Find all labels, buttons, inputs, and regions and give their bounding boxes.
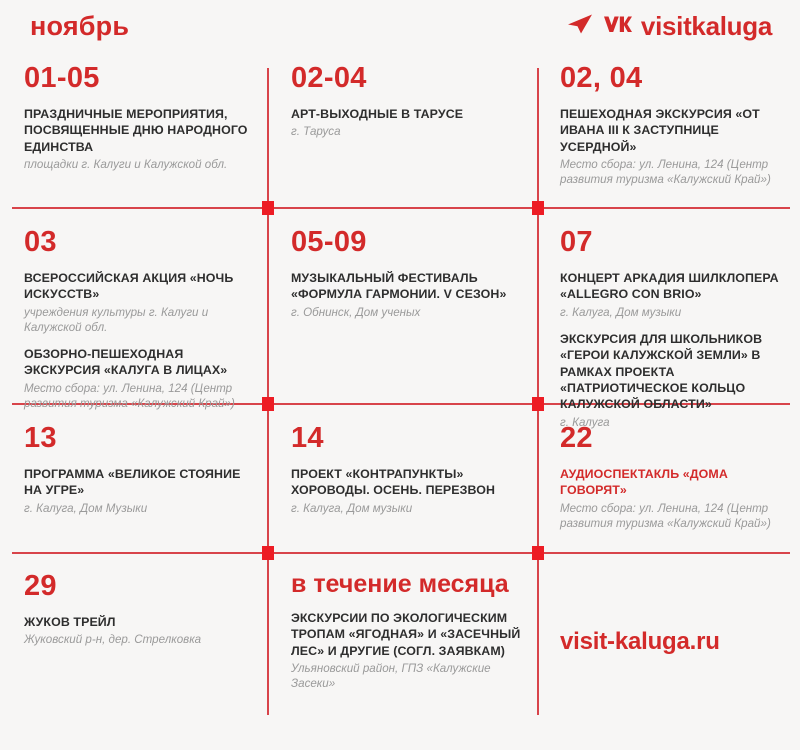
event-place: Ульяновский район, ГПЗ «Калужские Засеки… [291, 661, 529, 691]
event-title: ОБЗОРНО-ПЕШЕХОДНАЯ ЭКСКУРСИЯ «КАЛУГА В Л… [24, 346, 256, 379]
page-title: ноябрь [30, 13, 129, 40]
event-item[interactable]: КОНЦЕРТ АРКАДИЯ ШИЛКЛОПЕРА «ALLEGRO CON … [560, 270, 796, 320]
event-place: площадки г. Калуги и Калужской обл. [24, 157, 256, 172]
calendar-cell-29: 29 ЖУКОВ ТРЕЙЛ Жуковский р-н, дер. Стрел… [24, 572, 256, 647]
event-title: ПРОЕКТ «КОНТРАПУНКТЫ» ХОРОВОДЫ. ОСЕНЬ. П… [291, 466, 527, 499]
calendar-cell-whole-month: в течение месяца ЭКСКУРСИИ ПО ЭКОЛОГИЧЕС… [291, 572, 529, 691]
day-number: 07 [560, 228, 796, 257]
event-place: г. Таруса [291, 124, 521, 139]
event-title: ПЕШЕХОДНАЯ ЭКСКУРСИЯ «ОТ ИВАНА III К ЗАС… [560, 106, 792, 155]
vk-logo-icon[interactable] [602, 13, 632, 40]
site-url-link[interactable]: visit-kaluga.ru [560, 630, 720, 654]
day-number: 02, 04 [560, 64, 792, 93]
calendar-cell-07: 07 КОНЦЕРТ АРКАДИЯ ШИЛКЛОПЕРА «ALLEGRO C… [560, 228, 796, 430]
event-item[interactable]: ПРОГРАММА «ВЕЛИКОЕ СТОЯНИЕ НА УГРЕ» г. К… [24, 466, 262, 516]
day-number: 01-05 [24, 64, 256, 93]
event-place: г. Обнинск, Дом ученых [291, 305, 527, 320]
event-title: ВСЕРОССИЙСКАЯ АКЦИЯ «НОЧЬ ИСКУССТВ» [24, 270, 256, 303]
day-number: 13 [24, 424, 262, 453]
event-item[interactable]: ПРАЗДНИЧНЫЕ МЕРОПРИЯТИЯ, ПОСВЯЩЕННЫЕ ДНЮ… [24, 106, 256, 172]
event-item[interactable]: ПЕШЕХОДНАЯ ЭКСКУРСИЯ «ОТ ИВАНА III К ЗАС… [560, 106, 792, 187]
calendar-cell-14: 14 ПРОЕКТ «КОНТРАПУНКТЫ» ХОРОВОДЫ. ОСЕНЬ… [291, 424, 527, 516]
grid-vline-2 [537, 68, 539, 715]
grid-node-marker [532, 546, 544, 560]
calendar-cell-02-04: 02-04 АРТ-ВЫХОДНЫЕ В ТАРУСЕ г. Таруса [291, 64, 521, 139]
event-title: МУЗЫКАЛЬНЫЙ ФЕСТИВАЛЬ «ФОРМУЛА ГАРМОНИИ.… [291, 270, 527, 303]
poster-header: ноябрь visitkaluga [0, 0, 800, 52]
event-item[interactable]: ВСЕРОССИЙСКАЯ АКЦИЯ «НОЧЬ ИСКУССТВ» учре… [24, 270, 256, 335]
event-item[interactable]: МУЗЫКАЛЬНЫЙ ФЕСТИВАЛЬ «ФОРМУЛА ГАРМОНИИ.… [291, 270, 527, 320]
day-number: 22 [560, 424, 796, 453]
event-title: АРТ-ВЫХОДНЫЕ В ТАРУСЕ [291, 106, 521, 122]
event-item[interactable]: ОБЗОРНО-ПЕШЕХОДНАЯ ЭКСКУРСИЯ «КАЛУГА В Л… [24, 346, 256, 411]
event-item[interactable]: ЭКСКУРСИИ ПО ЭКОЛОГИЧЕСКИМ ТРОПАМ «ЯГОДН… [291, 610, 529, 691]
event-item[interactable]: ЭКСКУРСИЯ ДЛЯ ШКОЛЬНИКОВ «ГЕРОИ КАЛУЖСКО… [560, 331, 796, 430]
day-number: 03 [24, 228, 256, 257]
event-place: Место сбора: ул. Ленина, 124 (Центр разв… [560, 501, 796, 531]
event-item[interactable]: ЖУКОВ ТРЕЙЛ Жуковский р-н, дер. Стрелков… [24, 614, 256, 647]
grid-node-marker [262, 397, 274, 411]
event-place: Место сбора: ул. Ленина, 124 (Центр разв… [24, 381, 256, 411]
grid-hline-3 [12, 552, 790, 554]
grid-node-marker [532, 201, 544, 215]
event-title: ПРАЗДНИЧНЫЕ МЕРОПРИЯТИЯ, ПОСВЯЩЕННЫЕ ДНЮ… [24, 106, 256, 155]
event-item[interactable]: АУДИОСПЕКТАКЛЬ «ДОМА ГОВОРЯТ» Место сбор… [560, 466, 796, 531]
brand-name-label: visitkaluga [641, 13, 772, 39]
calendar-cell-13: 13 ПРОГРАММА «ВЕЛИКОЕ СТОЯНИЕ НА УГРЕ» г… [24, 424, 262, 516]
telegram-paperplane-icon[interactable] [567, 13, 593, 40]
day-number: 29 [24, 572, 256, 601]
event-place: г. Калуга, Дом музыки [560, 305, 796, 320]
grid-vline-1 [267, 68, 269, 715]
grid-hline-1 [12, 207, 790, 209]
event-place: Место сбора: ул. Ленина, 124 (Центр разв… [560, 157, 792, 187]
grid-node-marker [532, 397, 544, 411]
event-title: ЖУКОВ ТРЕЙЛ [24, 614, 256, 630]
calendar-cell-02-04-excursion: 02, 04 ПЕШЕХОДНАЯ ЭКСКУРСИЯ «ОТ ИВАНА II… [560, 64, 792, 187]
day-number: 05-09 [291, 228, 527, 257]
day-number: 14 [291, 424, 527, 453]
event-title: ЭКСКУРСИЯ ДЛЯ ШКОЛЬНИКОВ «ГЕРОИ КАЛУЖСКО… [560, 331, 796, 413]
event-place: Жуковский р-н, дер. Стрелковка [24, 632, 256, 647]
event-place: учреждения культуры г. Калуги и Калужско… [24, 305, 256, 335]
calendar-cell-01-05: 01-05 ПРАЗДНИЧНЫЕ МЕРОПРИЯТИЯ, ПОСВЯЩЕНН… [24, 64, 256, 172]
calendar-cell-22: 22 АУДИОСПЕКТАКЛЬ «ДОМА ГОВОРЯТ» Место с… [560, 424, 796, 531]
day-number: в течение месяца [291, 572, 529, 597]
grid-node-marker [262, 201, 274, 215]
event-title: ЭКСКУРСИИ ПО ЭКОЛОГИЧЕСКИМ ТРОПАМ «ЯГОДН… [291, 610, 529, 659]
event-title: КОНЦЕРТ АРКАДИЯ ШИЛКЛОПЕРА «ALLEGRO CON … [560, 270, 796, 303]
event-item[interactable]: АРТ-ВЫХОДНЫЕ В ТАРУСЕ г. Таруса [291, 106, 521, 139]
event-place: г. Калуга, Дом Музыки [24, 501, 262, 516]
day-number: 02-04 [291, 64, 521, 93]
event-place: г. Калуга, Дом музыки [291, 501, 527, 516]
event-item[interactable]: ПРОЕКТ «КОНТРАПУНКТЫ» ХОРОВОДЫ. ОСЕНЬ. П… [291, 466, 527, 516]
event-title: АУДИОСПЕКТАКЛЬ «ДОМА ГОВОРЯТ» [560, 466, 796, 499]
grid-node-marker [262, 546, 274, 560]
calendar-cell-05-09: 05-09 МУЗЫКАЛЬНЫЙ ФЕСТИВАЛЬ «ФОРМУЛА ГАР… [291, 228, 527, 320]
brand-block[interactable]: visitkaluga [567, 13, 772, 40]
calendar-cell-03: 03 ВСЕРОССИЙСКАЯ АКЦИЯ «НОЧЬ ИСКУССТВ» у… [24, 228, 256, 411]
event-title: ПРОГРАММА «ВЕЛИКОЕ СТОЯНИЕ НА УГРЕ» [24, 466, 262, 499]
